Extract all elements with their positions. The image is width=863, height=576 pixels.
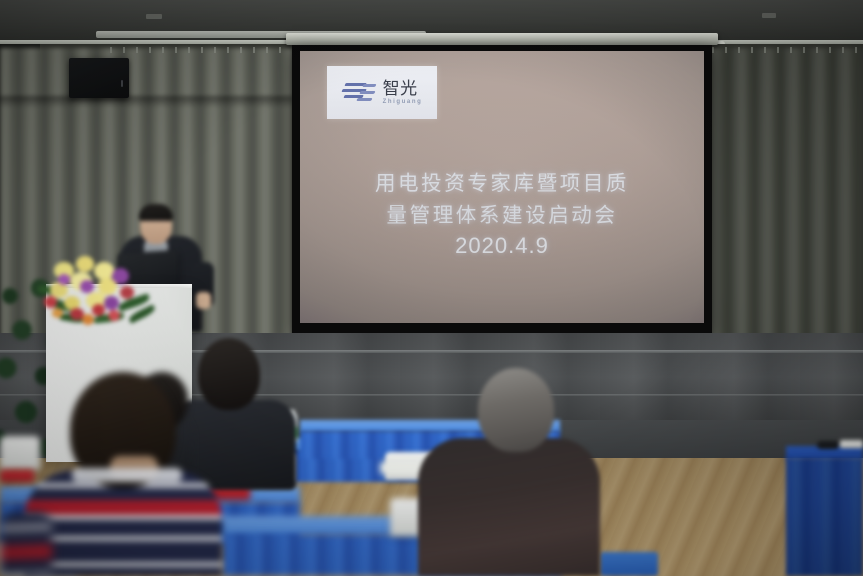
floral-arrangement [36, 252, 162, 334]
audience-head-gray [478, 368, 554, 452]
curtain-right [710, 48, 863, 344]
papers-on-side-table [840, 440, 863, 448]
audience-head [198, 338, 260, 410]
red-notebook [0, 470, 34, 482]
presenter-hair [139, 204, 173, 221]
curtain-header [0, 96, 292, 108]
audience-jacket [418, 438, 600, 576]
slide-logo: 智光 Zhiguang [327, 66, 437, 119]
presenter-hand [196, 292, 211, 309]
glasses-icon [142, 220, 169, 226]
chair [0, 436, 40, 470]
ceiling-vent-icon [762, 13, 776, 18]
curtain-hooks [712, 47, 862, 53]
logo-text-en: Zhiguang [383, 99, 423, 105]
slide-title-line-1: 用电投资专家库暨项目质 [300, 167, 704, 199]
conference-room-photo: 智光 Zhiguang 用电投资专家库暨项目质 量管理体系建设启动会 2020.… [0, 0, 863, 576]
table-corner [600, 552, 658, 576]
slide-title: 用电投资专家库暨项目质 量管理体系建设启动会 [300, 167, 704, 231]
projection-screen: 智光 Zhiguang 用电投资专家库暨项目质 量管理体系建设启动会 2020.… [292, 45, 712, 333]
side-table-skirt [786, 458, 863, 576]
shirt-collar [72, 468, 182, 482]
screen-housing [286, 33, 718, 45]
zhiguang-logo-mark-icon [342, 80, 378, 106]
logo-wordmark: 智光 Zhiguang [383, 80, 423, 105]
slide-date: 2020.4.9 [300, 233, 704, 259]
ceiling-vent-icon [146, 14, 162, 19]
curtain-hooks [110, 47, 292, 53]
slide-title-line-2: 量管理体系建设启动会 [300, 199, 704, 231]
speaker-led [121, 80, 123, 87]
slide-surface: 智光 Zhiguang 用电投资专家库暨项目质 量管理体系建设启动会 2020.… [300, 51, 704, 323]
loudspeaker-icon [69, 58, 129, 98]
object-on-side-table [817, 441, 839, 449]
striped-sleeve [0, 512, 52, 576]
logo-text-cn: 智光 [383, 80, 423, 97]
